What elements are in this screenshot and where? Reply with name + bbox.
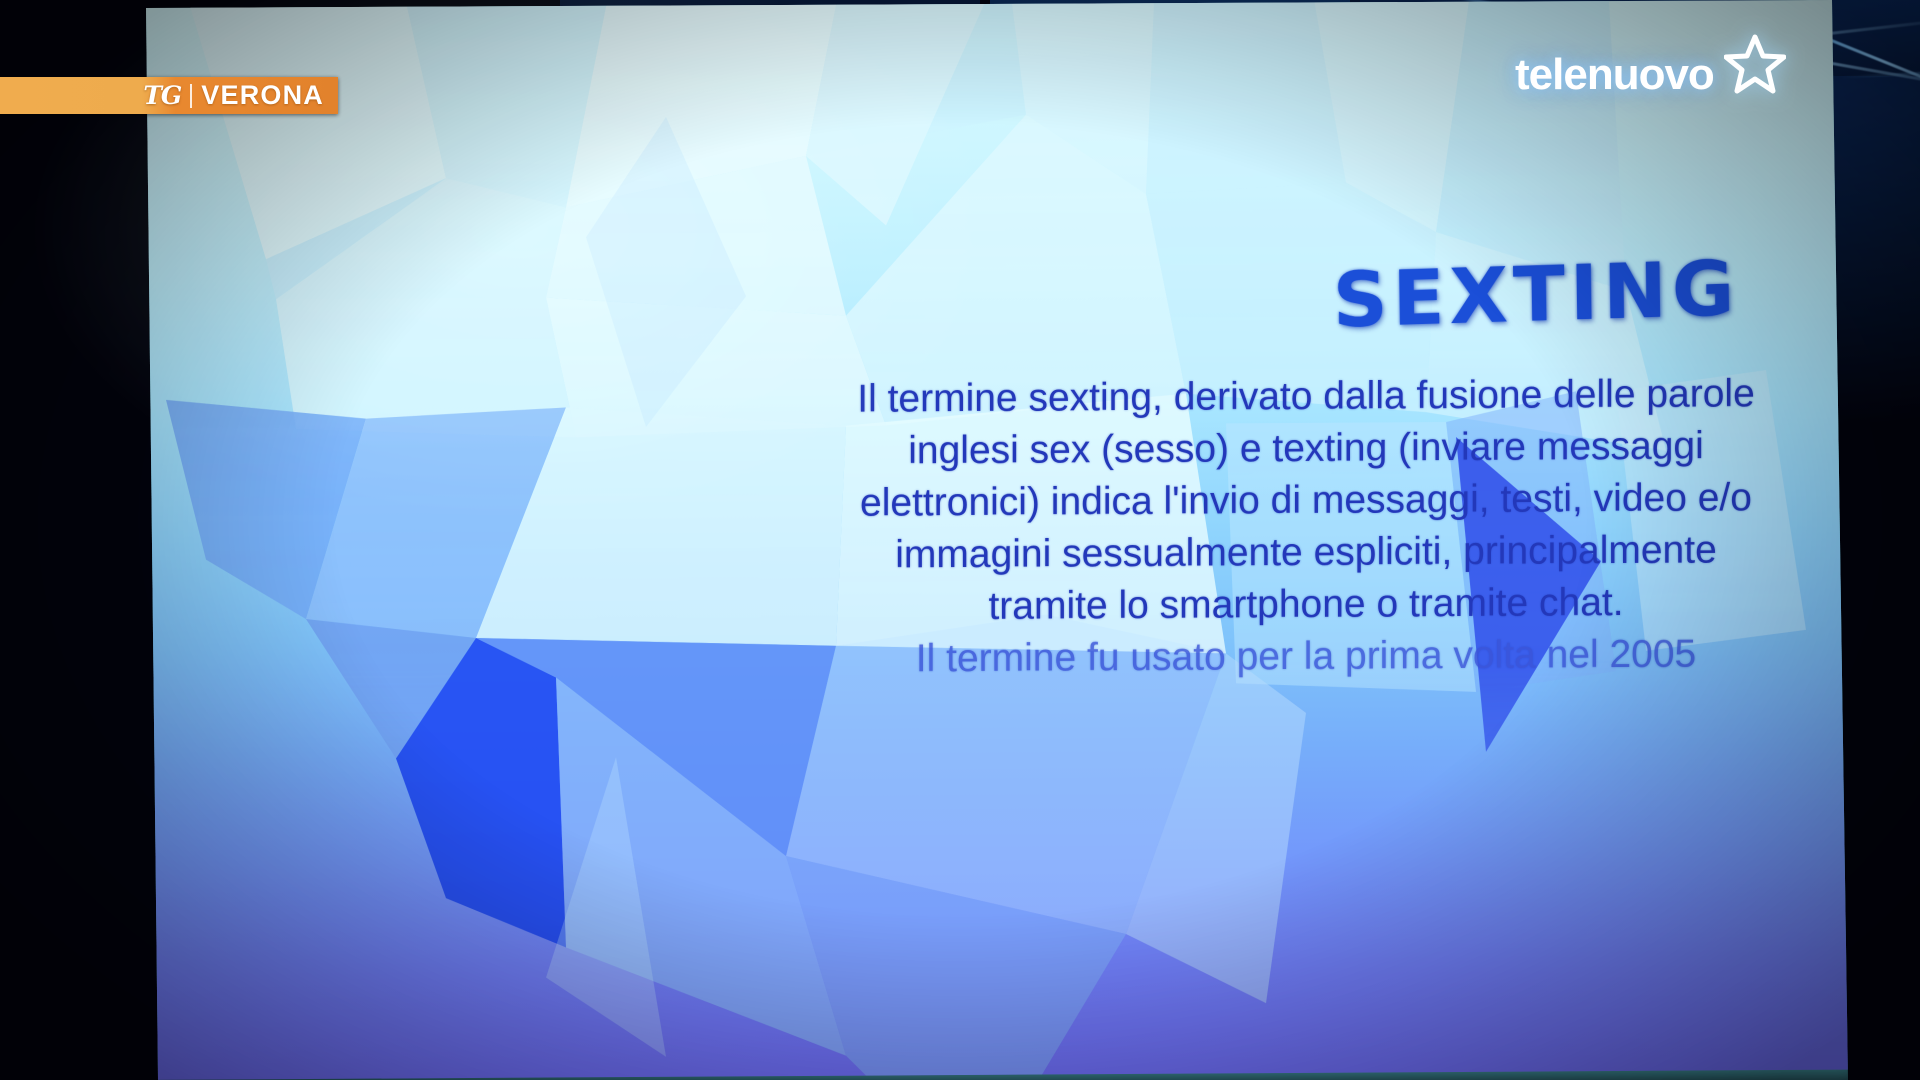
banner-location-label: VERONA <box>201 82 324 109</box>
star-icon <box>1724 34 1786 99</box>
channel-name: telenuovo <box>1515 53 1714 97</box>
slide-title: SEXTING <box>1255 241 1816 347</box>
projection-screen: SEXTING Il termine sexting, derivato dal… <box>0 0 1920 1080</box>
news-banner: TG VERONA <box>0 77 338 114</box>
body-line: inglesi sex (sesso) e texting (inviare m… <box>786 420 1826 478</box>
channel-bug: telenuovo <box>1515 50 1786 99</box>
presentation-slide: SEXTING Il termine sexting, derivato dal… <box>146 0 1848 1080</box>
slide-body-text: Il termine sexting, derivato dalla fusio… <box>786 368 1826 686</box>
banner-divider <box>190 84 192 108</box>
slide-footnote: Il termine fu usato per la prima volta n… <box>786 628 1826 686</box>
body-line: elettronici) indica l'invio di messaggi,… <box>786 472 1826 530</box>
body-line: Il termine sexting, derivato dalla fusio… <box>786 368 1826 426</box>
tg-logo-icon: TG <box>143 83 181 108</box>
body-line: immagini sessualmente espliciti, princip… <box>786 524 1826 582</box>
body-line: tramite lo smartphone o tramite chat. <box>786 576 1826 634</box>
video-frame: SEXTING Il termine sexting, derivato dal… <box>0 0 1920 1080</box>
